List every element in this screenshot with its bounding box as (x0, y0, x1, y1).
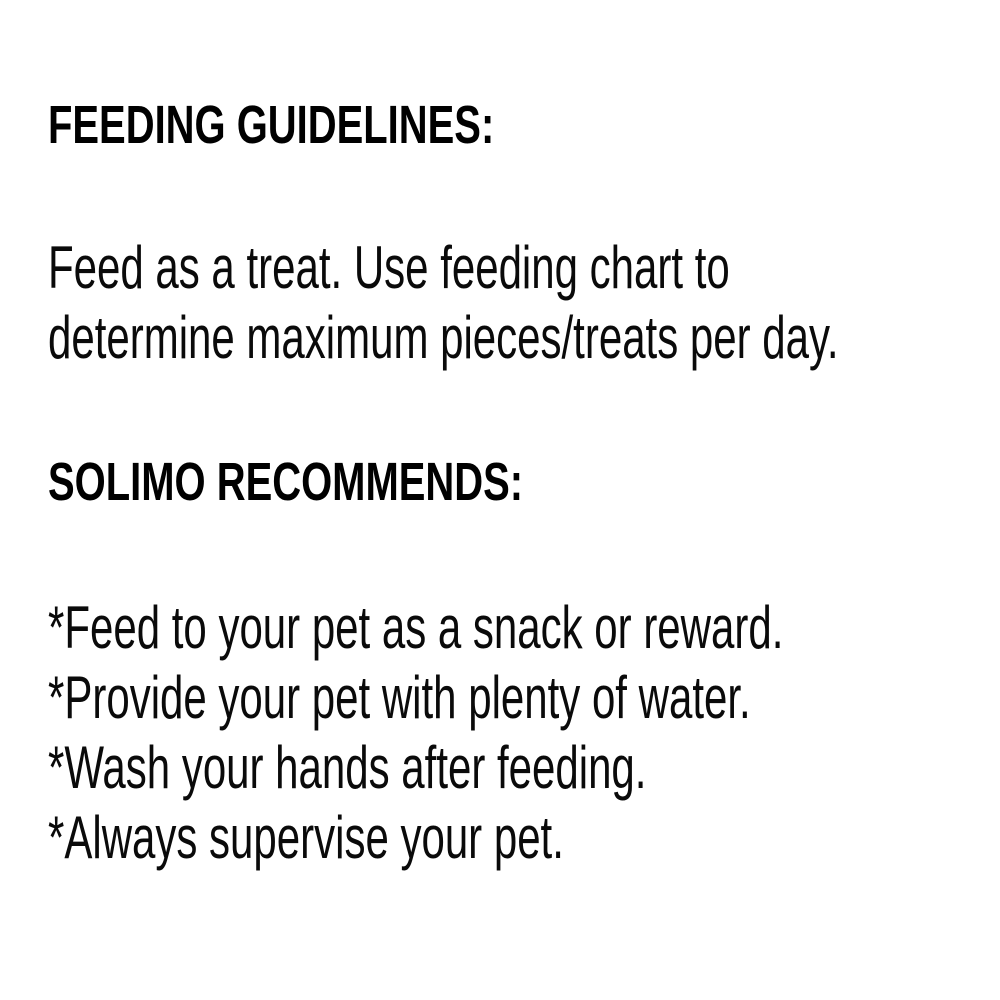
list-item: *Feed to your pet as a snack or reward. (48, 593, 783, 663)
solimo-recommends-heading: SOLIMO RECOMMENDS: (48, 455, 523, 509)
feeding-guidelines-body: Feed as a treat. Use feeding chart to de… (48, 233, 1000, 373)
feeding-body-line-2: determine maximum pieces/treats per day. (48, 303, 839, 373)
feeding-guidelines-heading: FEEDING GUIDELINES: (48, 98, 494, 152)
recommendations-list: *Feed to your pet as a snack or reward. … (48, 593, 1000, 873)
list-item: *Always supervise your pet. (48, 803, 783, 873)
feeding-body-line-1: Feed as a treat. Use feeding chart to (48, 233, 839, 303)
solimo-recommends-body: *Feed to your pet as a snack or reward. … (48, 593, 1000, 873)
list-item: *Provide your pet with plenty of water. (48, 663, 783, 733)
feeding-guidelines-section: FEEDING GUIDELINES: (48, 98, 651, 152)
solimo-recommends-section: SOLIMO RECOMMENDS: (48, 455, 690, 509)
feeding-guidelines-panel: FEEDING GUIDELINES: Feed as a treat. Use… (0, 0, 1000, 1000)
feeding-guidelines-paragraph: Feed as a treat. Use feeding chart to de… (48, 233, 1000, 373)
list-item: *Wash your hands after feeding. (48, 733, 783, 803)
